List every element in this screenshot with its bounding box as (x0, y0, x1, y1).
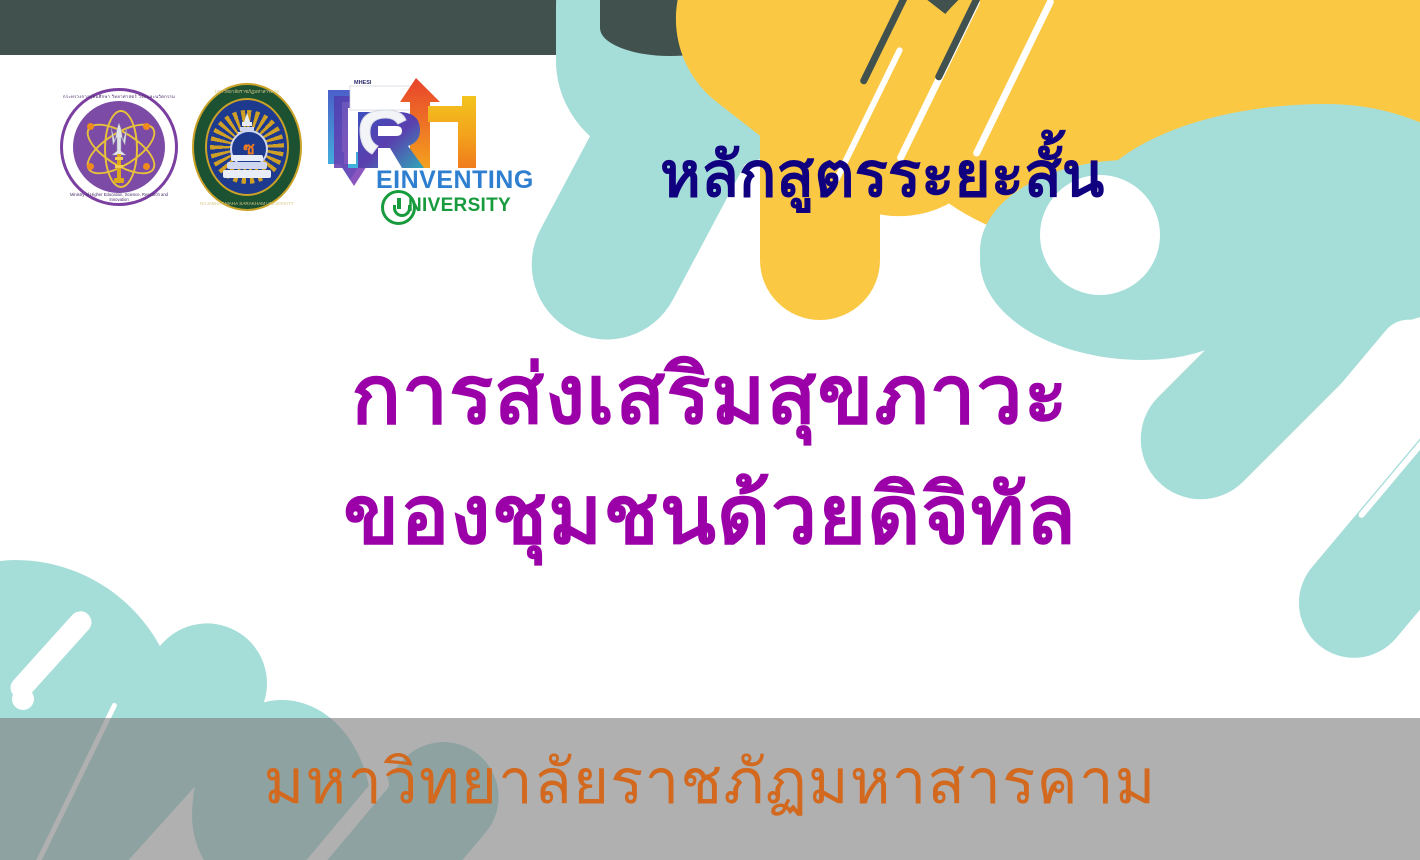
ministry-of-higher-education-logo: กระทรวงการอุดมศึกษา วิทยาศาสตร์ วิจัยและ… (60, 88, 178, 206)
atom-node-icon (143, 163, 150, 170)
ministry-logo-bottom-text: Ministry of Higher Education, Science, R… (60, 192, 178, 202)
title-line-2: ของชุมชนด้วยดิจิทัล (0, 456, 1420, 576)
white-hairline-2 (972, 0, 1055, 158)
mint-blob-bottom-left (0, 560, 180, 860)
rajabhat-maha-sarakham-university-seal: มหาวิทยาลัยราชภัฏมหาสารคาม RAJABHAT MAHA… (192, 83, 302, 211)
slate-hairline-2 (934, 0, 993, 81)
slate-hairline-1 (859, 0, 918, 85)
atom-node-icon (87, 163, 94, 170)
yellow-capsule-top-right (634, 0, 1047, 259)
page-title: การส่งเสริมสุขภาวะ ของชุมชนด้วยดิจิทัล (0, 336, 1420, 575)
reinventing-university-logo: MHESI EINVENTING NIVERSITY (316, 72, 531, 222)
seal-top-text: มหาวิทยาลัยราชภัฏมหาสารคาม (192, 89, 302, 96)
university-wordmark: NIVERSITY (408, 196, 511, 215)
reinventing-tiny-label: MHESI (354, 80, 371, 87)
ministry-logo-disc (73, 101, 165, 193)
seal-inner-oval: ซ (205, 98, 289, 196)
title-line-1: การส่งเสริมสุขภาวะ (0, 336, 1420, 456)
yellow-blob-top-right (905, 0, 1420, 260)
top-slate-bar (0, 0, 1420, 55)
ministry-logo-top-text: กระทรวงการอุดมศึกษา วิทยาศาสตร์ วิจัยและ… (60, 93, 178, 100)
poster-canvas: กระทรวงการอุดมศึกษา วิทยาศาสตร์ วิจัยและ… (0, 0, 1420, 860)
kicker-text: หลักสูตรระยะสั้น (660, 143, 1360, 208)
mint-capsule-bottom-left (0, 599, 292, 860)
trident-icon (106, 121, 132, 185)
logo-row: กระทรวงการอุดมศึกษา วิทยาศาสตร์ วิจัยและ… (60, 72, 531, 222)
atom-node-icon (143, 123, 150, 130)
organization-name: มหาวิทยาลัยราชภัฏมหาสารคาม (0, 752, 1420, 814)
white-hairline-bottom-left-1 (6, 607, 96, 703)
slate-notch (600, 0, 740, 56)
white-dot-bottom-left (12, 688, 34, 710)
white-hairline-1 (896, 0, 981, 162)
seal-pedestal-icon (223, 155, 271, 181)
seal-bottom-text: RAJABHAT MAHA SARAKHAM UNIVERSITY (192, 201, 302, 206)
atom-node-icon (87, 123, 94, 130)
mint-wave-right (1080, 104, 1420, 334)
